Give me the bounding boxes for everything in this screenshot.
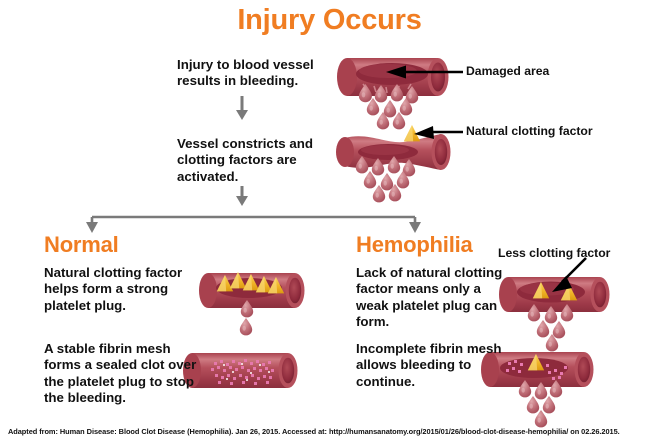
fibrin-mesh-dense bbox=[211, 359, 274, 385]
label-less-clotting-factor: Less clotting factor bbox=[498, 246, 610, 260]
clotting-factor-triangle bbox=[404, 125, 420, 141]
flow-arrow-step1-to-step2 bbox=[236, 96, 248, 120]
branch-title-normal: Normal bbox=[44, 232, 119, 258]
hemophilia-step-2-description: Incomplete fibrin mesh allows bleeding t… bbox=[356, 341, 508, 390]
source-citation: Adapted from: Human Disease: Blood Clot … bbox=[8, 427, 653, 436]
vessel-hemophilia-weak-plug bbox=[499, 277, 610, 351]
callout-arrow-natural-clotting-factor bbox=[414, 126, 463, 139]
normal-step-2-description: A stable fibrin mesh forms a sealed clot… bbox=[44, 341, 210, 407]
branch-title-hemophilia: Hemophilia bbox=[356, 232, 473, 258]
callout-arrow-damaged-area bbox=[386, 66, 463, 79]
page-title: Injury Occurs bbox=[0, 4, 659, 37]
infographic-canvas: Injury Occurs bbox=[0, 0, 659, 445]
normal-step-1-description: Natural clotting factor helps form a str… bbox=[44, 265, 196, 314]
vessel-normal-platelet-plug bbox=[199, 272, 305, 335]
vessel-stage-1 bbox=[337, 58, 449, 129]
label-natural-clotting-factor: Natural clotting factor bbox=[466, 124, 593, 138]
fibrin-mesh-sparse bbox=[506, 360, 567, 380]
label-damaged-area: Damaged area bbox=[466, 64, 549, 78]
branch-split-connector bbox=[92, 217, 415, 224]
hemophilia-step-1-description: Lack of natural clotting factor means on… bbox=[356, 265, 506, 331]
callout-arrow-less-clotting-factor bbox=[552, 258, 586, 292]
flow-arrow-step2-to-split bbox=[236, 186, 248, 206]
step-1-description: Injury to blood vessel results in bleedi… bbox=[177, 57, 337, 90]
vessel-stage-2 bbox=[336, 125, 451, 202]
step-2-description: Vessel constricts and clotting factors a… bbox=[177, 136, 337, 185]
